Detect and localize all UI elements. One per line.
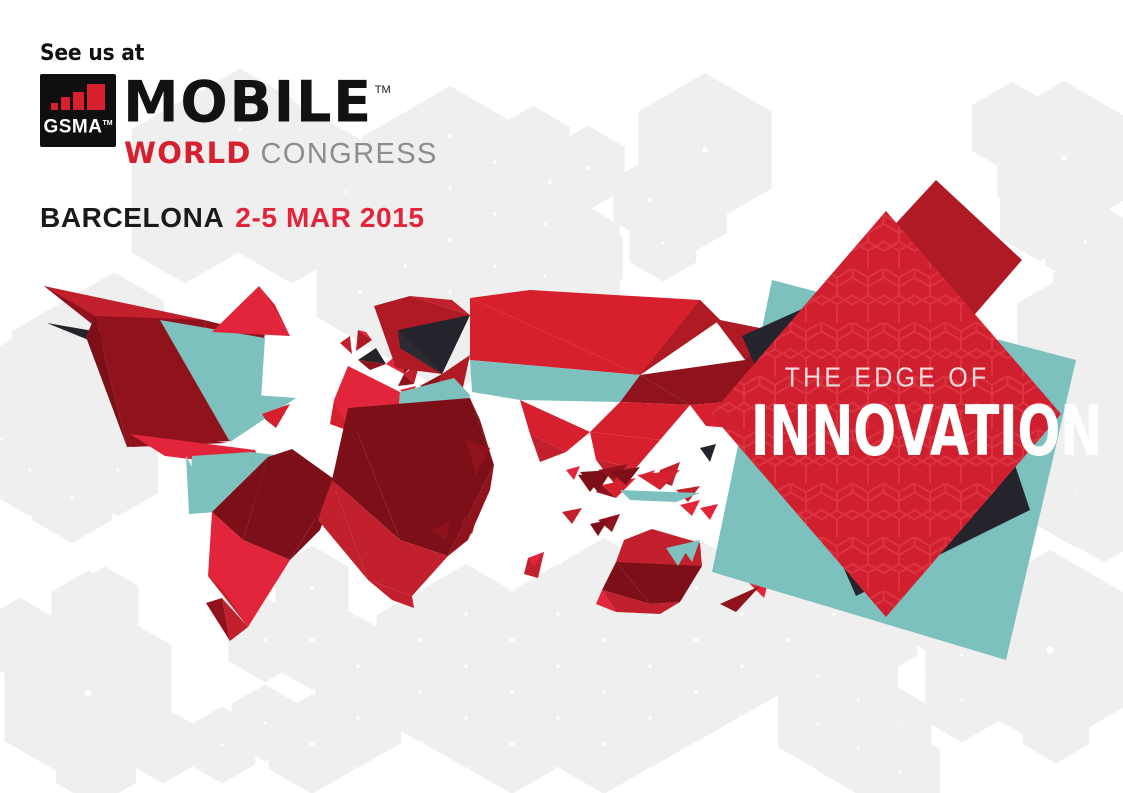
gsma-word-text: GSMA [43, 117, 102, 138]
map-shape [340, 336, 352, 354]
mwc-logo-lockup: See us at GSMATM MOBILETM WORLDCONGRESS … [38, 42, 378, 164]
venue-date-row: BARCELONA2-5 MAR 2015 [40, 202, 425, 234]
map-shape [590, 520, 608, 536]
gsma-wordmark: GSMATM [43, 114, 112, 136]
map-shape [212, 286, 290, 336]
venue-city: BARCELONA [40, 202, 224, 233]
map-shape [562, 508, 582, 524]
world-wordmark: WORLD [124, 136, 252, 170]
venue-dates: 2-5 MAR 2015 [235, 202, 424, 233]
gsma-trademark: TM [102, 120, 112, 127]
map-shape [680, 500, 700, 516]
map-shape [566, 466, 580, 480]
world-congress-row: WORLDCONGRESS [124, 136, 438, 171]
congress-wordmark: CONGRESS [261, 138, 438, 170]
mwc-wordmark: GSMATM MOBILETM WORLDCONGRESS BARCELONA2… [38, 74, 368, 164]
mobile-wordmark: MOBILE [123, 75, 373, 130]
map-shape [700, 504, 718, 520]
gsma-bars-icon [51, 84, 105, 110]
mobile-trademark: TM [375, 84, 391, 96]
mobile-wordmark-row: MOBILETM [123, 76, 389, 130]
map-shape [700, 444, 716, 462]
gsma-logo-badge: GSMATM [40, 74, 116, 147]
map-shape [720, 586, 760, 612]
poster-canvas: See us at GSMATM MOBILETM WORLDCONGRESS … [0, 0, 1123, 793]
map-shape [520, 400, 590, 452]
see-us-at-label: See us at [40, 42, 351, 66]
